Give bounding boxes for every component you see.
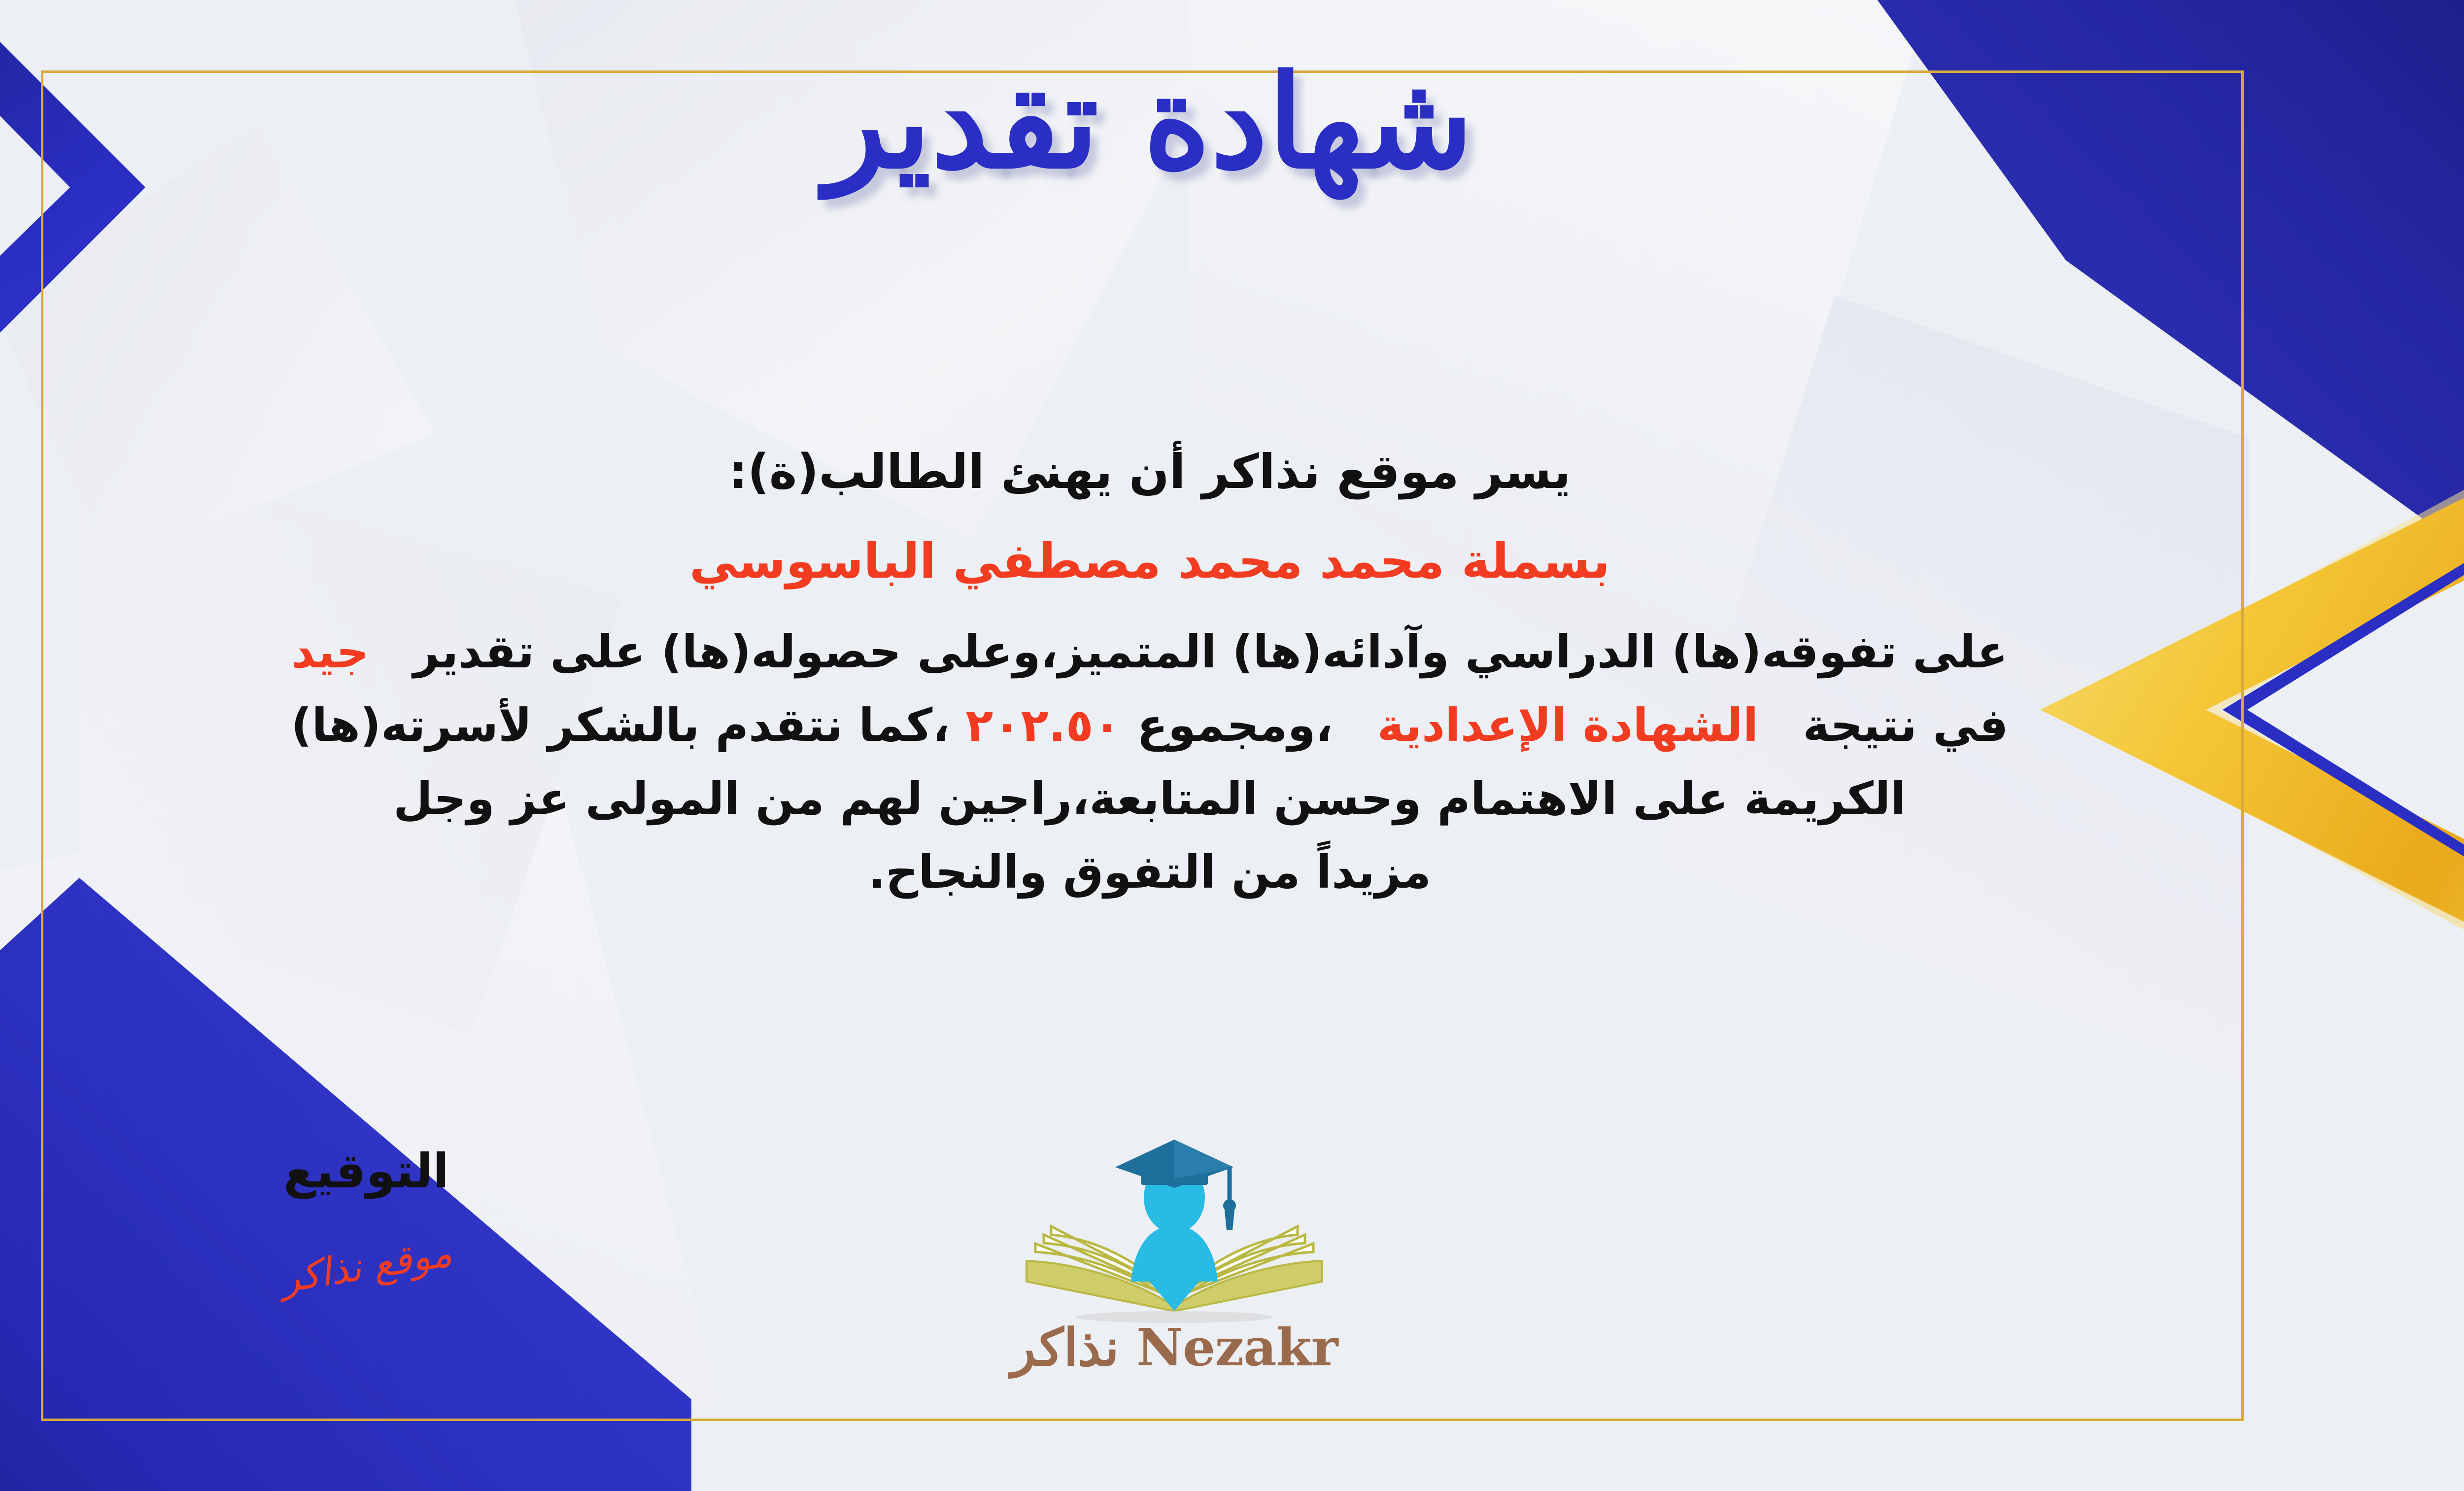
exam-name: الشهادة الإعدادية [1377,699,1759,752]
logo-mark [1002,1134,1347,1326]
closing-line: مزيداً من التفوق والنجاح. [0,835,2406,909]
intro-line: يسر موقع نذاكر أن يهنئ الطالب(ة): [0,434,2406,511]
certificate-body: يسر موقع نذاكر أن يهنئ الطالب(ة): بسملة … [0,434,2406,909]
brand-logo: Nezakr نذاكر [1002,1134,1347,1378]
thanks-line: الكريمة على الاهتمام وحسن المتابعة،راجين… [0,762,2406,835]
signature-block: التوقيع موقع نذاكر [208,1144,524,1288]
signature-label: التوقيع [208,1144,524,1199]
grade-value: جيد [291,625,369,678]
total-label: ،ومجموع [1137,699,1333,752]
exam-prefix-text: في نتيجة [1803,699,2008,752]
exam-result-line: في نتيجةالشهادة الإعدادية،ومجموع ٢٠٢.٥٠ … [0,689,2406,762]
total-score: ٢٠٢.٥٠ [965,699,1121,752]
graduate-book-icon [1002,1134,1347,1326]
certificate-page: شهادة تقدير يسر موقع نذاكر أن يهنئ الطال… [0,0,2464,1491]
student-name: بسملة محمد محمد مصطفي الباسوسي [0,533,2406,589]
page-title: شهادة تقدير [0,47,2464,197]
achievement-line: على تفوقه(ها) الدراسي وآدائه(ها) المتميز… [0,615,2406,689]
logo-wordmark: Nezakr نذاكر [1002,1317,1347,1378]
achievement-text: على تفوقه(ها) الدراسي وآدائه(ها) المتميز… [413,625,2008,678]
exam-suffix-text: ،كما نتقدم بالشكر لأسرته(ها) [291,699,950,752]
